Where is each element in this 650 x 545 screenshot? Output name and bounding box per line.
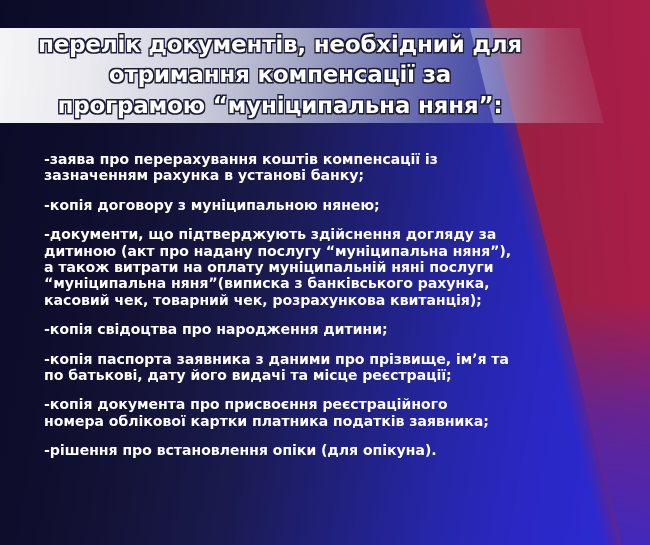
document-requirements-list: -заява про перерахування коштів компенса… — [44, 152, 634, 460]
list-item: -копія паспорта заявника з даними про пр… — [44, 352, 634, 385]
list-item: -копія договору з муніципальною нянею; — [44, 198, 634, 214]
list-item: -копія свідоцтва про народження дитини; — [44, 322, 634, 338]
page-title: перелік документів, необхідний для отрим… — [0, 30, 560, 121]
list-item: -документи, що підтверджують здійснення … — [44, 227, 634, 309]
list-item: -копія документа про присвоєння реєстрац… — [44, 397, 634, 430]
list-item: -заява про перерахування коштів компенса… — [44, 152, 634, 185]
list-item: -рішення про встановлення опіки (для опі… — [44, 443, 634, 459]
slide-canvas: перелік документів, необхідний для отрим… — [0, 0, 650, 545]
